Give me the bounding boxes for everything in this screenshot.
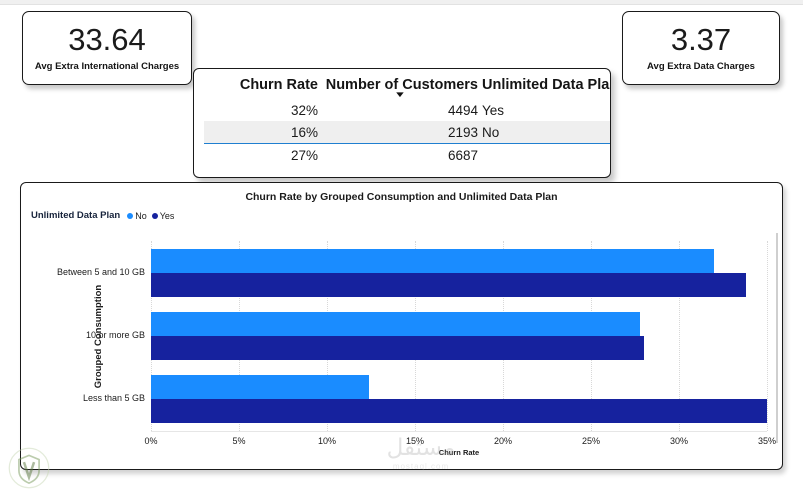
legend-item-label: Yes bbox=[160, 211, 175, 221]
x-axis-title: Churn Rate bbox=[151, 448, 767, 457]
table-header: Churn Rate Number of Customers ▼ Unlimit… bbox=[204, 74, 611, 99]
churn-summary-table: Churn Rate Number of Customers ▼ Unlimit… bbox=[204, 74, 611, 166]
y-axis-tick-label: 10 or more GB bbox=[86, 330, 145, 340]
cell-total-unlimited-data-plan bbox=[480, 144, 611, 167]
cell-number-of-customers: 2193 bbox=[320, 121, 480, 144]
table-total-row: 27% 6687 bbox=[204, 144, 611, 167]
table-header-row: Churn Rate Number of Customers ▼ Unlimit… bbox=[204, 74, 611, 99]
x-axis-tick-label: 35% bbox=[758, 436, 776, 446]
caret-down-icon: ▼ bbox=[275, 92, 525, 98]
chart-legend: Unlimited Data Plan No Yes bbox=[31, 210, 174, 221]
chart-bar[interactable] bbox=[151, 249, 714, 273]
x-axis-tick-label: 10% bbox=[318, 436, 336, 446]
y-axis-tick-label: Between 5 and 10 GB bbox=[57, 267, 145, 277]
cell-unlimited-data-plan: Yes bbox=[480, 99, 611, 121]
table-row[interactable]: 32% 4494 Yes bbox=[204, 99, 611, 121]
legend-title: Unlimited Data Plan bbox=[31, 210, 120, 221]
table-row[interactable]: 16% 2193 No bbox=[204, 121, 611, 144]
legend-swatch-icon bbox=[152, 213, 158, 219]
column-header-label: Unlimited Data Plan bbox=[482, 77, 611, 93]
x-axis-line bbox=[151, 431, 767, 432]
chart-scrollbar[interactable] bbox=[776, 233, 778, 443]
chart-bar[interactable] bbox=[151, 336, 644, 360]
kpi-value: 33.64 bbox=[68, 24, 146, 57]
x-axis-tick-label: 25% bbox=[582, 436, 600, 446]
cell-total-churn-rate: 27% bbox=[204, 144, 320, 167]
chart-bar[interactable] bbox=[151, 399, 767, 423]
kpi-label: Avg Extra International Charges bbox=[35, 61, 179, 72]
cell-number-of-customers: 4494 bbox=[320, 99, 480, 121]
chart-bar[interactable] bbox=[151, 375, 369, 399]
chart-bar[interactable] bbox=[151, 312, 640, 336]
cell-unlimited-data-plan: No bbox=[480, 121, 611, 144]
cell-churn-rate: 32% bbox=[204, 99, 320, 121]
chart-gridline bbox=[767, 241, 768, 431]
kpi-card-avg-extra-international-charges[interactable]: 33.64 Avg Extra International Charges bbox=[22, 11, 192, 85]
kpi-card-avg-extra-data-charges[interactable]: 3.37 Avg Extra Data Charges bbox=[622, 11, 780, 85]
kpi-label: Avg Extra Data Charges bbox=[647, 61, 755, 72]
legend-swatch-icon bbox=[127, 213, 133, 219]
x-axis-tick-label: 20% bbox=[494, 436, 512, 446]
cell-total-number-of-customers: 6687 bbox=[320, 144, 480, 167]
x-axis-tick-label: 15% bbox=[406, 436, 424, 446]
legend-item-label: No bbox=[135, 211, 147, 221]
table-body: 32% 4494 Yes 16% 2193 No 27% 6687 bbox=[204, 99, 611, 166]
x-axis-tick-label: 0% bbox=[144, 436, 157, 446]
column-header-label: Churn Rate bbox=[240, 77, 318, 93]
x-axis-tick-label: 30% bbox=[670, 436, 688, 446]
chart-plot-area: Churn Rate 0%5%10%15%20%25%30%35%Between… bbox=[151, 241, 767, 431]
x-axis-tick-label: 5% bbox=[232, 436, 245, 446]
y-axis-tick-label: Less than 5 GB bbox=[83, 393, 145, 403]
chart-bar[interactable] bbox=[151, 273, 746, 297]
window-top-strip bbox=[0, 0, 803, 5]
legend-item-no[interactable]: No bbox=[127, 211, 147, 221]
legend-item-yes[interactable]: Yes bbox=[152, 211, 175, 221]
churn-rate-bar-chart-card[interactable]: Churn Rate by Grouped Consumption and Un… bbox=[20, 182, 783, 470]
chart-title: Churn Rate by Grouped Consumption and Un… bbox=[21, 191, 782, 203]
column-header-number-of-customers[interactable]: Number of Customers ▼ bbox=[320, 74, 480, 99]
churn-summary-table-card[interactable]: Churn Rate Number of Customers ▼ Unlimit… bbox=[193, 68, 611, 178]
cell-churn-rate: 16% bbox=[204, 121, 320, 144]
kpi-value: 3.37 bbox=[671, 24, 731, 57]
report-canvas: 33.64 Avg Extra International Charges 3.… bbox=[0, 0, 803, 496]
